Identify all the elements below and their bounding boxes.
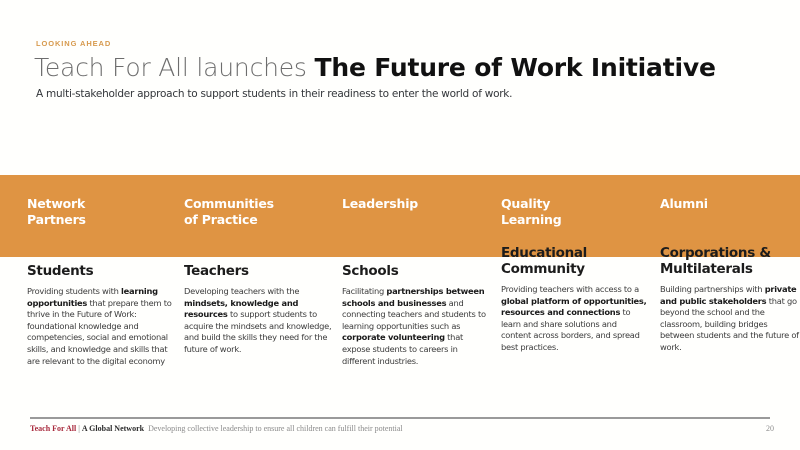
column-body-schools-bold2: corporate volunteering: [342, 332, 445, 342]
column-body-schools-pre: Facilitating: [342, 286, 386, 296]
footer-network-label: A Global Network: [82, 424, 144, 433]
content-column-teachers: Teachers Developing teachers with the mi…: [184, 263, 332, 356]
content-column-students: Students Providing students with learnin…: [27, 263, 175, 367]
content-column-schools: Schools Facilitating partnerships betwee…: [342, 263, 490, 367]
column-body-corporations-multilaterals: Building partnerships with private and p…: [660, 284, 800, 354]
page-number: 20: [766, 424, 774, 433]
column-body-teachers: Developing teachers with the mindsets, k…: [184, 286, 332, 356]
column-body-educational-community-pre: Providing teachers with access to a: [501, 284, 639, 294]
column-body-corporations-pre: Building partnerships with: [660, 284, 765, 294]
band-column-network-partners: NetworkPartners: [27, 196, 86, 228]
content-column-educational-community: EducationalCommunity Providing teachers …: [501, 263, 649, 354]
footer-brand-logo: Teach For All: [30, 424, 76, 433]
band-column-communities-of-practice: Communitiesof Practice: [184, 196, 274, 228]
band-column-quality-learning: QualityLearning: [501, 196, 561, 228]
page-subtitle: A multi-stakeholder approach to support …: [36, 88, 512, 100]
column-body-schools: Facilitating partnerships between school…: [342, 286, 490, 367]
page-title-light: Teach For All launches: [34, 53, 315, 82]
page-title-bold: The Future of Work Initiative: [315, 53, 716, 82]
content-column-corporations-multilaterals: Corporations &Multilaterals Building par…: [660, 263, 800, 354]
footer-tagline: Developing collective leadership to ensu…: [148, 424, 403, 433]
eyebrow-label: LOOKING AHEAD: [36, 39, 111, 48]
column-body-teachers-pre: Developing teachers with the: [184, 286, 299, 296]
band-column-alumni: Alumni: [660, 196, 708, 212]
column-body-students-pre: Providing students with: [27, 286, 121, 296]
slide-canvas: LOOKING AHEAD Teach For All launches The…: [0, 0, 800, 450]
band-column-leadership: Leadership: [342, 196, 418, 212]
column-heading-educational-community: EducationalCommunity: [501, 245, 649, 277]
column-heading-students: Students: [27, 263, 175, 279]
column-body-educational-community: Providing teachers with access to a glob…: [501, 284, 649, 354]
column-heading-teachers: Teachers: [184, 263, 332, 279]
column-body-students: Providing students with learning opportu…: [27, 286, 175, 367]
footer: Teach For All|A Global NetworkDeveloping…: [30, 424, 403, 433]
column-heading-schools: Schools: [342, 263, 490, 279]
footer-divider: [30, 417, 770, 419]
column-heading-corporations-multilaterals: Corporations &Multilaterals: [660, 245, 800, 277]
footer-separator: |: [78, 424, 80, 433]
page-title: Teach For All launches The Future of Wor…: [34, 53, 716, 83]
